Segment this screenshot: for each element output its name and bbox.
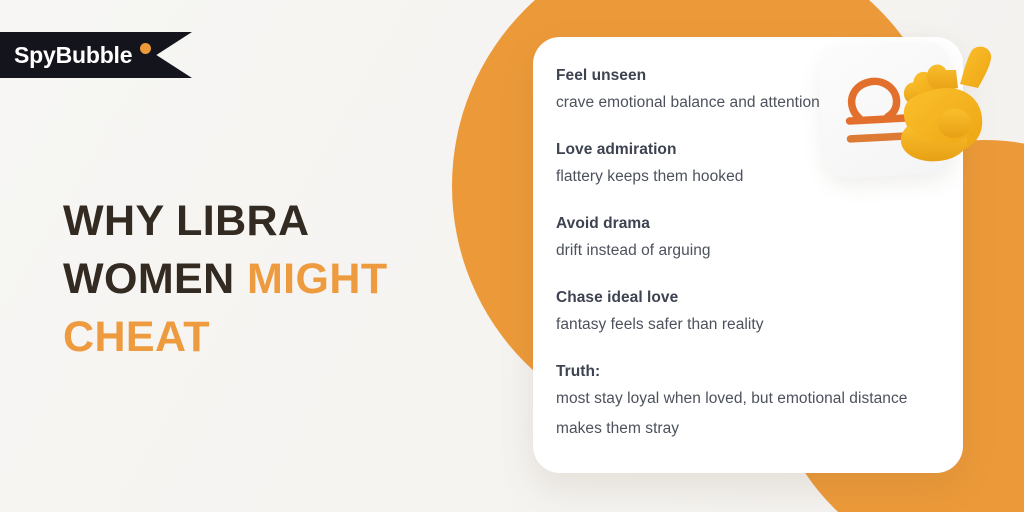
fact-title: Truth: (556, 359, 956, 384)
brand-wordmark: SpyBubble (14, 32, 132, 78)
index-pointing-up-icon (886, 40, 1004, 174)
list-item: Chase ideal love fantasy feels safer tha… (556, 285, 956, 340)
infographic-canvas: SpyBubble WHY LIBRA WOMEN MIGHT CHEAT Fe… (0, 0, 1024, 512)
fact-description: drift instead of arguing (556, 236, 956, 266)
orange-dot-icon (140, 43, 151, 54)
fact-title: Chase ideal love (556, 285, 956, 310)
list-item: Truth: most stay loyal when loved, but e… (556, 359, 956, 444)
page-title: WHY LIBRA WOMEN MIGHT CHEAT (63, 192, 483, 366)
brand-logo-ribbon[interactable]: SpyBubble (0, 32, 192, 78)
headline-line-2: WOMEN MIGHT (63, 250, 483, 308)
headline-line-2-dark: WOMEN (63, 255, 235, 303)
fact-title: Avoid drama (556, 211, 956, 236)
headline-line-3: CHEAT (63, 308, 483, 366)
headline-line-1: WHY LIBRA (63, 192, 483, 250)
fact-description: most stay loyal when loved, but emotiona… (556, 384, 956, 444)
fact-description: fantasy feels safer than reality (556, 310, 956, 340)
list-item: Avoid drama drift instead of arguing (556, 211, 956, 266)
headline-line-2-accent: MIGHT (247, 255, 388, 303)
